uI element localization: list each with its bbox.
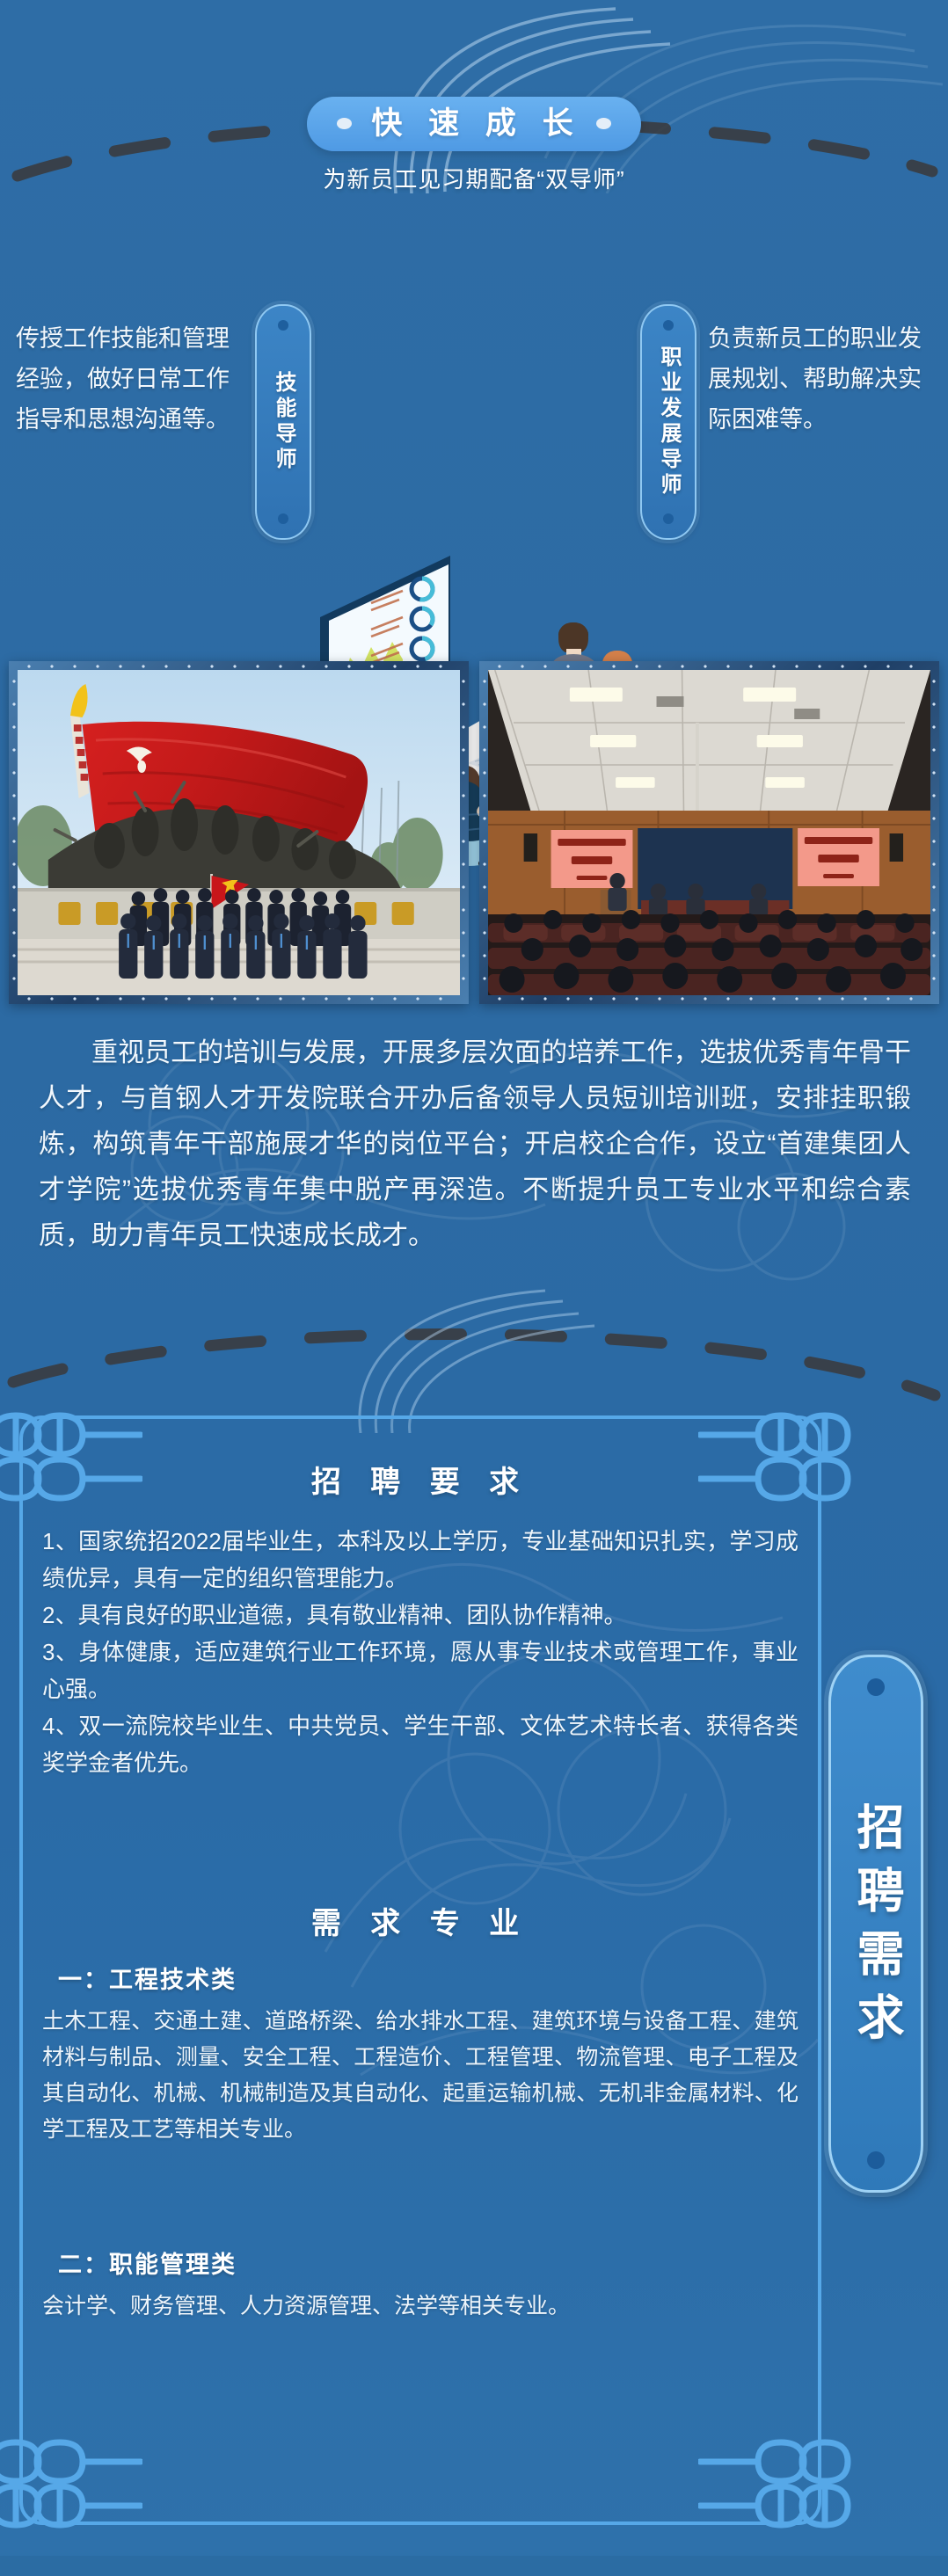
career-mentor-description: 负责新员工的职业发展规划、帮助解决实际困难等。 [708, 318, 935, 440]
majors-group-management: 二：职能管理类 会计学、财务管理、人力资源管理、法学等相关专业。 [42, 2245, 799, 2325]
photo-frame-right [479, 661, 939, 1004]
majors-group-body: 会计学、财务管理、人力资源管理、法学等相关专业。 [42, 2289, 799, 2325]
side-plaque-nub-top-icon [867, 1678, 885, 1696]
plaque-nub-bottom-icon [663, 513, 674, 524]
photo-frame-left [9, 661, 469, 1004]
requirement-item-3: 3、身体健康，适应建筑行业工作环境，愿从事专业技术或管理工作，事业心强。 [42, 1634, 799, 1707]
film-perforation-right [930, 670, 938, 995]
requirement-item-2: 2、具有良好的职业道德，具有敬业精神、团队协作精神。 [42, 1597, 799, 1634]
side-tab-label: 招聘需求 [852, 1792, 900, 2056]
career-mentor-badge-label: 职业发展导师 [658, 346, 679, 498]
page-title: 快 速 成 长 [366, 105, 581, 143]
plaque-nub-bottom-icon [278, 513, 288, 524]
recruitment-need-side-tab: 招聘需求 [828, 1655, 923, 2193]
header: 快 速 成 长 为新员工见习期配备“双导师” [0, 97, 948, 194]
photo-gallery [9, 661, 939, 1004]
majors-group-body: 土木工程、交通土建、道路桥梁、给水排水工程、建筑环境与设备工程、建筑材料与制品、… [42, 2004, 799, 2148]
plaque-nub-top-icon [663, 320, 674, 331]
requirement-item-1: 1、国家统招2022届毕业生，本科及以上学历，专业基础知识扎实，学习成绩优异，具… [42, 1523, 799, 1597]
pill-dot-right-icon [596, 118, 611, 129]
pill-dot-left-icon [337, 118, 352, 129]
requirements-title: 招 聘 要 求 [23, 1458, 818, 1501]
recruitment-poster: { "theme": { "background": "#2d6ca5", "a… [0, 0, 948, 2556]
skill-mentor-badge: 技能导师 [255, 304, 311, 540]
film-perforation-bottom [488, 994, 930, 1003]
majors-group-heading: 二：职能管理类 [58, 2245, 799, 2280]
film-perforation-right [459, 670, 468, 995]
skill-mentor-badge-label: 技能导师 [273, 371, 294, 473]
requirement-item-4: 4、双一流院校毕业生、中共党员、学生干部、文体艺术特长者、获得各类奖学金者优先。 [42, 1707, 799, 1781]
side-plaque-nub-bottom-icon [867, 2151, 885, 2169]
requirements-list: 1、国家统招2022届毕业生，本科及以上学历，专业基础知识扎实，学习成绩优异，具… [42, 1523, 799, 1781]
skill-mentor-description: 传授工作技能和管理经验，做好日常工作指导和思想沟通等。 [16, 318, 243, 440]
film-perforation-bottom [18, 994, 460, 1003]
majors-group-heading: 一：工程技术类 [58, 1961, 799, 1995]
majors-group-engineering: 一：工程技术类 土木工程、交通土建、道路桥梁、给水排水工程、建筑环境与设备工程、… [42, 1961, 799, 2148]
group-photo-red-flag-monument [18, 670, 460, 995]
majors-title: 需 求 专 业 [23, 1899, 818, 1942]
training-opening-ceremony-auditorium [488, 670, 930, 995]
plaque-nub-top-icon [278, 320, 288, 331]
requirements-card: 招 聘 要 求 1、国家统招2022届毕业生，本科及以上学历，专业基础知识扎实，… [19, 1415, 821, 2525]
body-paragraph: 重视员工的培训与发展，开展多层次面的培养工作，选拔优秀青年骨干人才，与首钢人才开… [39, 1030, 911, 1259]
title-pill: 快 速 成 长 [307, 97, 640, 151]
mentor-section: 传授工作技能和管理经验，做好日常工作指导和思想沟通等。 技能导师 [0, 290, 948, 580]
page-subtitle: 为新员工见习期配备“双导师” [0, 162, 948, 194]
career-mentor-badge: 职业发展导师 [640, 304, 696, 540]
